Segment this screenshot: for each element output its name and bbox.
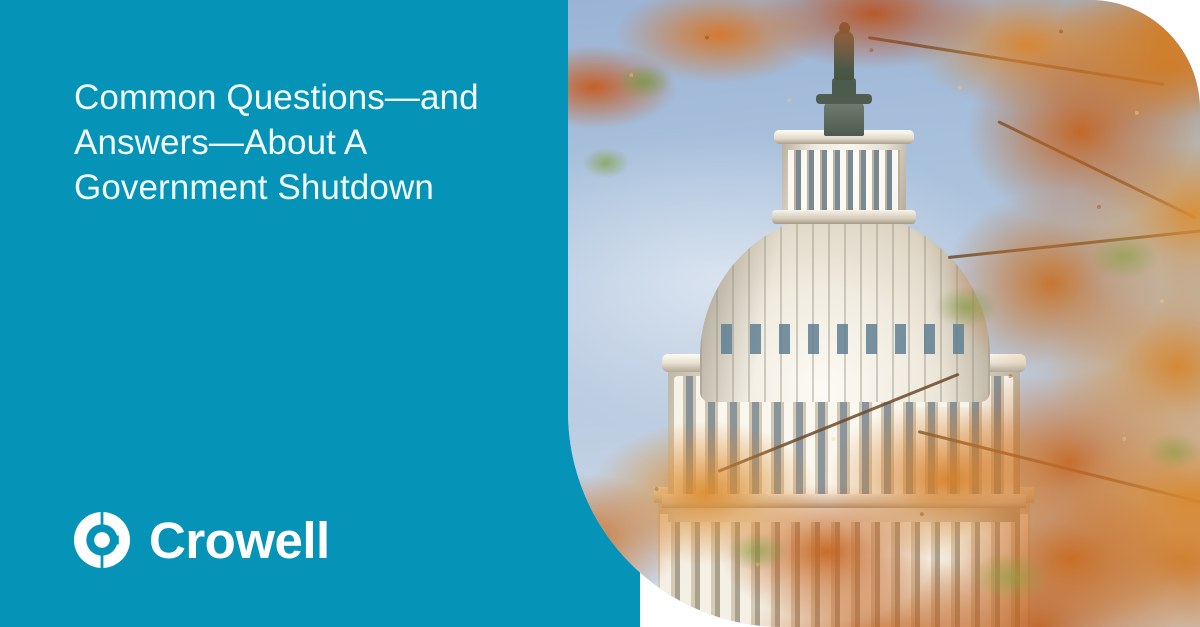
crowell-logo[interactable]: Crowell bbox=[74, 512, 330, 568]
crowell-c-mark-icon bbox=[74, 512, 130, 568]
social-share-card: Common Questions—and Answers—About A Gov… bbox=[0, 0, 1200, 627]
page-title: Common Questions—and Answers—About A Gov… bbox=[74, 75, 504, 210]
capitol-drum-base bbox=[662, 494, 1026, 508]
capitol-tholos-base bbox=[772, 210, 916, 224]
capitol-dome-windows bbox=[712, 324, 978, 354]
capitol-base-columns bbox=[660, 514, 1028, 627]
capitol-tholos-columns bbox=[788, 150, 900, 212]
capitol-dome-ribs bbox=[700, 212, 990, 402]
capitol-lantern bbox=[824, 102, 864, 136]
statue-head bbox=[839, 22, 850, 34]
hero-photo bbox=[568, 0, 1200, 627]
photo-stage bbox=[568, 0, 1200, 627]
capitol-building bbox=[664, 62, 1024, 627]
crowell-wordmark: Crowell bbox=[149, 515, 330, 566]
statue-of-freedom bbox=[834, 30, 854, 80]
statue-pedestal bbox=[832, 78, 856, 98]
